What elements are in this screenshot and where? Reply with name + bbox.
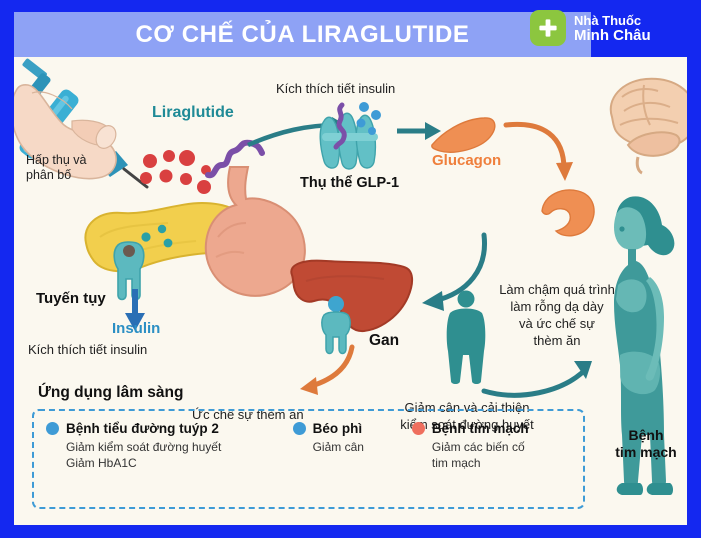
plus-icon (530, 10, 566, 46)
label-insulin: Insulin (112, 320, 160, 337)
clinical-item-details: Giảm cân (313, 440, 412, 456)
clinical-section-title: Ứng dụng lâm sàng (38, 384, 183, 402)
brand-logo: Nhà Thuốc Minh Châu (530, 10, 651, 46)
body-side-illustration (602, 185, 687, 515)
infographic-root: CƠ CHẾ CỦA LIRAGLUTIDE Nhà Thuốc Minh Ch… (0, 0, 701, 538)
page-title: CƠ CHẾ CỦA LIRAGLUTIDE (14, 12, 591, 57)
label-cardio-side: Bệnh tim mạch (606, 427, 686, 461)
label-stimulate-insulin-bottom: Kích thích tiết insulin (28, 342, 147, 357)
clinical-item-cardio[interactable]: Bệnh tim mạch Giảm các biến cố tim mạch (412, 421, 571, 471)
clinical-box: Bệnh tiểu đường tuýp 2 Giảm kiểm soát đư… (32, 409, 585, 509)
label-stimulate-insulin-top: Kích thích tiết insulin (276, 81, 395, 96)
label-absorption: Hấp thụ và phân bố (26, 153, 146, 183)
clinical-item-diabetes[interactable]: Bệnh tiểu đường tuýp 2 Giảm kiểm soát đư… (46, 421, 293, 471)
clinical-item-details: Giảm kiểm soát đường huyết Giảm HbA1C (66, 440, 293, 471)
glucagon-secondary-illustration (534, 185, 604, 241)
clinical-item-header: Bệnh tim mạch (412, 421, 571, 436)
arrow-to-body-icon (482, 355, 602, 403)
label-liraglutide: Liraglutide (152, 104, 234, 122)
clinical-item-obesity[interactable]: Béo phì Giảm cân (293, 421, 412, 471)
label-glucagon: Glucagon (432, 152, 501, 169)
brain-illustration (598, 73, 687, 177)
clinical-item-label: Bệnh tim mạch (432, 421, 529, 436)
diagram-canvas: Hấp thụ và phân bố Liraglutide Kích thíc… (14, 57, 687, 525)
brand-line-2: Minh Châu (574, 28, 651, 43)
clinical-item-label: Bệnh tiểu đường tuýp 2 (66, 421, 219, 436)
clinical-item-label: Béo phì (313, 421, 363, 436)
glucagon-illustration (428, 115, 500, 157)
bullet-dot-icon (46, 422, 59, 435)
clinical-item-header: Béo phì (293, 421, 412, 436)
brand-line-1: Nhà Thuốc (574, 13, 651, 28)
arrow-appetite-icon (290, 343, 364, 405)
label-liver: Gan (369, 332, 399, 350)
label-pancreas: Tuyến tụy (36, 290, 106, 307)
clinical-items: Bệnh tiểu đường tuýp 2 Giảm kiểm soát đư… (34, 411, 583, 479)
brand-name: Nhà Thuốc Minh Châu (574, 13, 651, 43)
clinical-item-header: Bệnh tiểu đường tuýp 2 (46, 421, 293, 436)
bullet-dot-icon (293, 422, 306, 435)
bullet-dot-icon (412, 422, 425, 435)
header-bar: CƠ CHẾ CỦA LIRAGLUTIDE Nhà Thuốc Minh Ch… (0, 0, 701, 62)
clinical-item-details: Giảm các biến cố tim mạch (432, 440, 571, 471)
